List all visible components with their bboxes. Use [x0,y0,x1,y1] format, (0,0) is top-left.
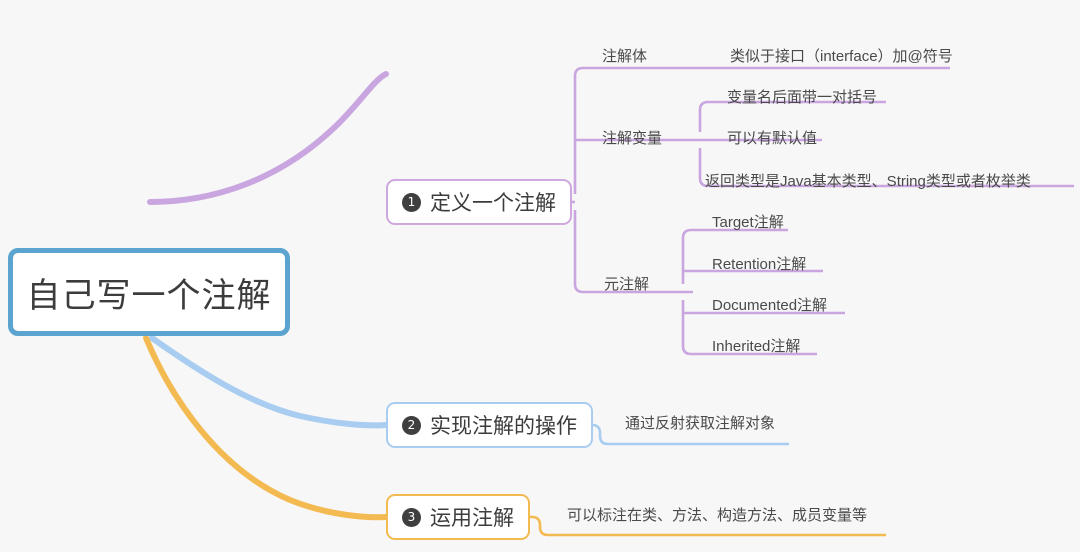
branch-2-badge: 2 [402,416,421,435]
branch-1-label: 定义一个注解 [430,187,556,217]
branch-node-apply-annotation[interactable]: 3 运用注解 [386,494,530,540]
mind-map-canvas: 自己写一个注解 1 定义一个注解 2 实现注解的操作 3 运用注解 注解体 类似… [0,0,1080,552]
root-node[interactable]: 自己写一个注解 [8,248,290,336]
node-annotation-body-detail[interactable]: 类似于接口（interface）加@符号 [730,49,953,64]
node-meta-annotation[interactable]: 元注解 [604,277,649,292]
node-annotation-variable[interactable]: 注解变量 [602,131,662,146]
wire-root-to-branch-1 [150,74,386,202]
node-annotation-usage-targets[interactable]: 可以标注在类、方法、构造方法、成员变量等 [567,508,867,523]
node-reflection-get-annotation[interactable]: 通过反射获取注解对象 [625,416,775,431]
node-annotation-body[interactable]: 注解体 [602,49,647,64]
node-documented-annotation[interactable]: Documented注解 [712,298,827,313]
branch-2-label: 实现注解的操作 [430,410,577,440]
node-annotation-variable-detail-3[interactable]: 返回类型是Java基本类型、String类型或者枚举类 [705,174,1031,189]
branch-node-define-annotation[interactable]: 1 定义一个注解 [386,179,572,225]
branch-3-badge: 3 [402,508,421,527]
node-annotation-variable-detail-1[interactable]: 变量名后面带一对括号 [727,90,877,105]
node-target-annotation[interactable]: Target注解 [712,215,784,230]
node-annotation-variable-detail-2[interactable]: 可以有默认值 [727,131,817,146]
node-retention-annotation[interactable]: Retention注解 [712,257,806,272]
root-node-label: 自己写一个注解 [27,268,272,317]
branch-node-implement-annotation[interactable]: 2 实现注解的操作 [386,402,593,448]
branch-1-badge: 1 [402,193,421,212]
node-inherited-annotation[interactable]: Inherited注解 [712,339,800,354]
wire-meta-annotation-trunk [683,230,817,354]
wire-root-to-branch-2 [152,338,386,425]
wire-root-to-branch-3 [146,338,386,517]
branch-3-label: 运用注解 [430,502,514,532]
